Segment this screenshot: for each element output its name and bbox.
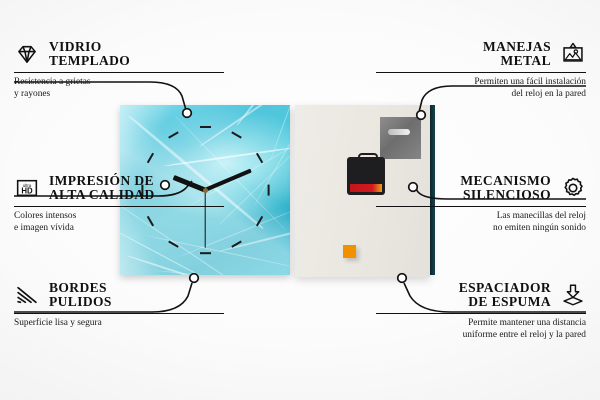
feature-manejas-metal: MANEJAS METAL Permiten una fácil instala…	[376, 40, 586, 100]
feature-header: ESPACIADOR DE ESPUMA	[376, 281, 586, 309]
feature-rule	[376, 72, 586, 73]
feature-header: MANEJAS METAL	[376, 40, 586, 68]
feature-subtitle: Las manecillas del reloj no emiten ningú…	[376, 211, 586, 234]
feature-vidrio-templado: VIDRIO TEMPLADO Resistencia a grietas y …	[14, 40, 224, 100]
feature-bordes-pulidos: BORDES PULIDOS Superficie lisa y segura	[14, 281, 224, 330]
polished-edges-icon	[14, 282, 40, 308]
feature-title: MANEJAS METAL	[483, 40, 551, 68]
clock-hub	[203, 188, 208, 193]
feature-subtitle: Resistencia a grietas y rayones	[14, 77, 224, 100]
feature-rule	[14, 72, 224, 73]
clock-tick	[267, 184, 269, 195]
feature-rule	[376, 313, 586, 314]
feature-mecanismo-silencioso: MECANISMO SILENCIOSO Las manecillas del …	[376, 174, 586, 234]
feature-header: BORDES PULIDOS	[14, 281, 224, 309]
feature-rule	[376, 206, 586, 207]
svg-text:HD: HD	[21, 186, 33, 195]
clock-tick	[200, 126, 211, 128]
foam-spacer-icon	[560, 282, 586, 308]
gear-icon	[560, 175, 586, 201]
foam-spacer	[343, 245, 356, 258]
hanger-plate	[380, 117, 421, 159]
feature-header: MECANISMO SILENCIOSO	[376, 174, 586, 202]
feature-header: VIDRIO TEMPLADO	[14, 40, 224, 68]
feature-title: MECANISMO SILENCIOSO	[460, 174, 551, 202]
clock-tick	[200, 252, 211, 254]
feature-subtitle: Colores intensos e imagen vívida	[14, 211, 224, 234]
feature-subtitle: Superficie lisa y segura	[14, 318, 224, 329]
ultra-hd-icon: ultra HD	[14, 175, 40, 201]
feature-subtitle: Permite mantener una distancia uniforme …	[376, 318, 586, 341]
feature-title: VIDRIO TEMPLADO	[49, 40, 130, 68]
infographic-canvas: VIDRIO TEMPLADO Resistencia a grietas y …	[0, 0, 600, 400]
feature-title: BORDES PULIDOS	[49, 281, 112, 309]
feature-impresion-alta-calidad: ultra HD IMPRESIÓN DE ALTA CALIDAD Color…	[14, 174, 224, 234]
picture-hanger-icon	[560, 41, 586, 67]
feature-title: ESPACIADOR DE ESPUMA	[459, 281, 551, 309]
feature-rule	[14, 313, 224, 314]
feature-subtitle: Permiten una fácil instalación del reloj…	[376, 77, 586, 100]
feature-title: IMPRESIÓN DE ALTA CALIDAD	[49, 174, 155, 202]
feature-header: ultra HD IMPRESIÓN DE ALTA CALIDAD	[14, 174, 224, 202]
feature-rule	[14, 206, 224, 207]
feature-espaciador-espuma: ESPACIADOR DE ESPUMA Permite mantener un…	[376, 281, 586, 341]
diamond-icon	[14, 41, 40, 67]
